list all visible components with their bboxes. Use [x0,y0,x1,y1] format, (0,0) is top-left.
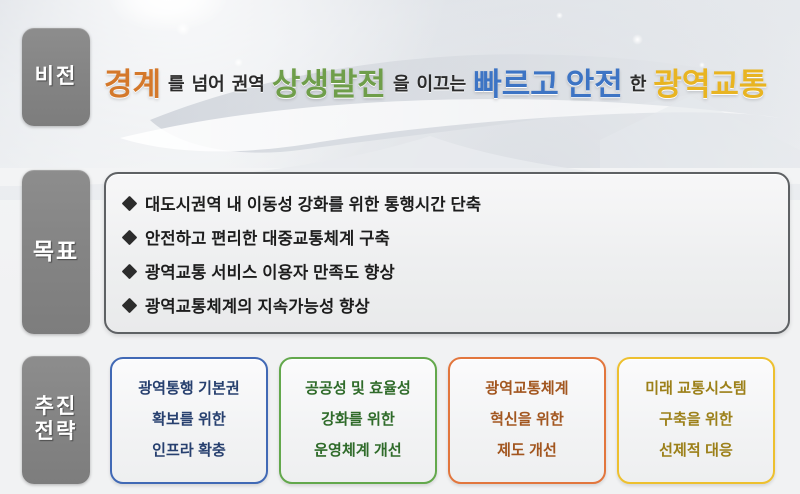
vision-segment-0: 경계 [104,69,161,100]
row-label-goal: 목표 [22,170,90,334]
strategy-line: 운영체계 개선 [314,436,402,467]
strategy-box-institution[interactable]: 광역교통체계혁신을 위한제도 개선 [448,357,606,484]
vision-statement: 경계를넘어권역상생발전을이끄는빠르고안전한광역교통 [104,60,794,108]
goal-item-text: 광역교통 서비스 이용자 만족도 향상 [145,259,395,283]
strategy-line: 미래 교통시스템 [645,374,747,405]
diamond-bullet-icon [122,263,138,279]
row-label-vision-text: 비전 [35,65,78,90]
diamond-bullet-icon [122,195,138,211]
vision-segment-8: 안전 [566,69,623,100]
strategy-line: 광역교통체계 [485,374,568,405]
vision-segment-3: 권역 [232,75,265,93]
goals-panel: 대도시권역 내 이동성 강화를 위한 통행시간 단축안전하고 편리한 대중교통체… [104,172,790,334]
vision-segment-1: 를 [168,75,185,93]
goal-item: 광역교통 서비스 이용자 만족도 향상 [124,254,788,288]
strategy-line: 선제적 대응 [659,436,733,467]
strategy-line: 구축을 위한 [659,405,733,436]
row-label-strategy: 추진 전략 [22,356,90,484]
strategy-line: 제도 개선 [497,436,557,467]
row-label-strategy-line1: 추진 [35,395,78,418]
vision-segment-2: 넘어 [192,75,225,93]
vision-segment-4: 상생발전 [272,69,386,100]
strategy-line: 공공성 및 효율성 [305,374,411,405]
strategy-line: 광역통행 기본권 [138,374,240,405]
row-label-strategy-line2: 전략 [35,420,78,443]
vision-segment-10: 광역교통 [653,69,767,100]
diamond-bullet-icon [122,229,138,245]
goal-item-text: 안전하고 편리한 대중교통체계 구축 [145,225,390,249]
vision-strategy-infographic: 비전 목표 추진 전략 경계를넘어권역상생발전을이끄는빠르고안전한광역교통 대도… [0,0,800,494]
row-label-vision: 비전 [22,28,90,126]
row-label-goal-text: 목표 [33,238,79,265]
strategy-box-future-system[interactable]: 미래 교통시스템구축을 위한선제적 대응 [617,357,775,484]
vision-segment-7: 빠르고 [473,69,559,100]
goal-item: 대도시권역 내 이동성 강화를 위한 통행시간 단축 [124,186,788,220]
diamond-bullet-icon [122,297,138,313]
strategy-box-operations[interactable]: 공공성 및 효율성강화를 위한운영체계 개선 [279,357,437,484]
strategy-line: 혁신을 위한 [490,405,564,436]
strategy-line: 인프라 확충 [152,436,226,467]
strategy-box-infrastructure[interactable]: 광역통행 기본권확보를 위한인프라 확충 [110,357,268,484]
goal-item: 광역교통체계의 지속가능성 향상 [124,288,788,322]
strategy-line: 강화를 위한 [321,405,395,436]
vision-segment-5: 을 [393,75,410,93]
strategy-line: 확보를 위한 [152,405,226,436]
vision-segment-6: 이끄는 [417,75,467,93]
goal-item-text: 대도시권역 내 이동성 강화를 위한 통행시간 단축 [145,191,481,215]
goal-item-text: 광역교통체계의 지속가능성 향상 [145,293,370,317]
vision-segment-9: 한 [630,75,647,93]
goal-item: 안전하고 편리한 대중교통체계 구축 [124,220,788,254]
